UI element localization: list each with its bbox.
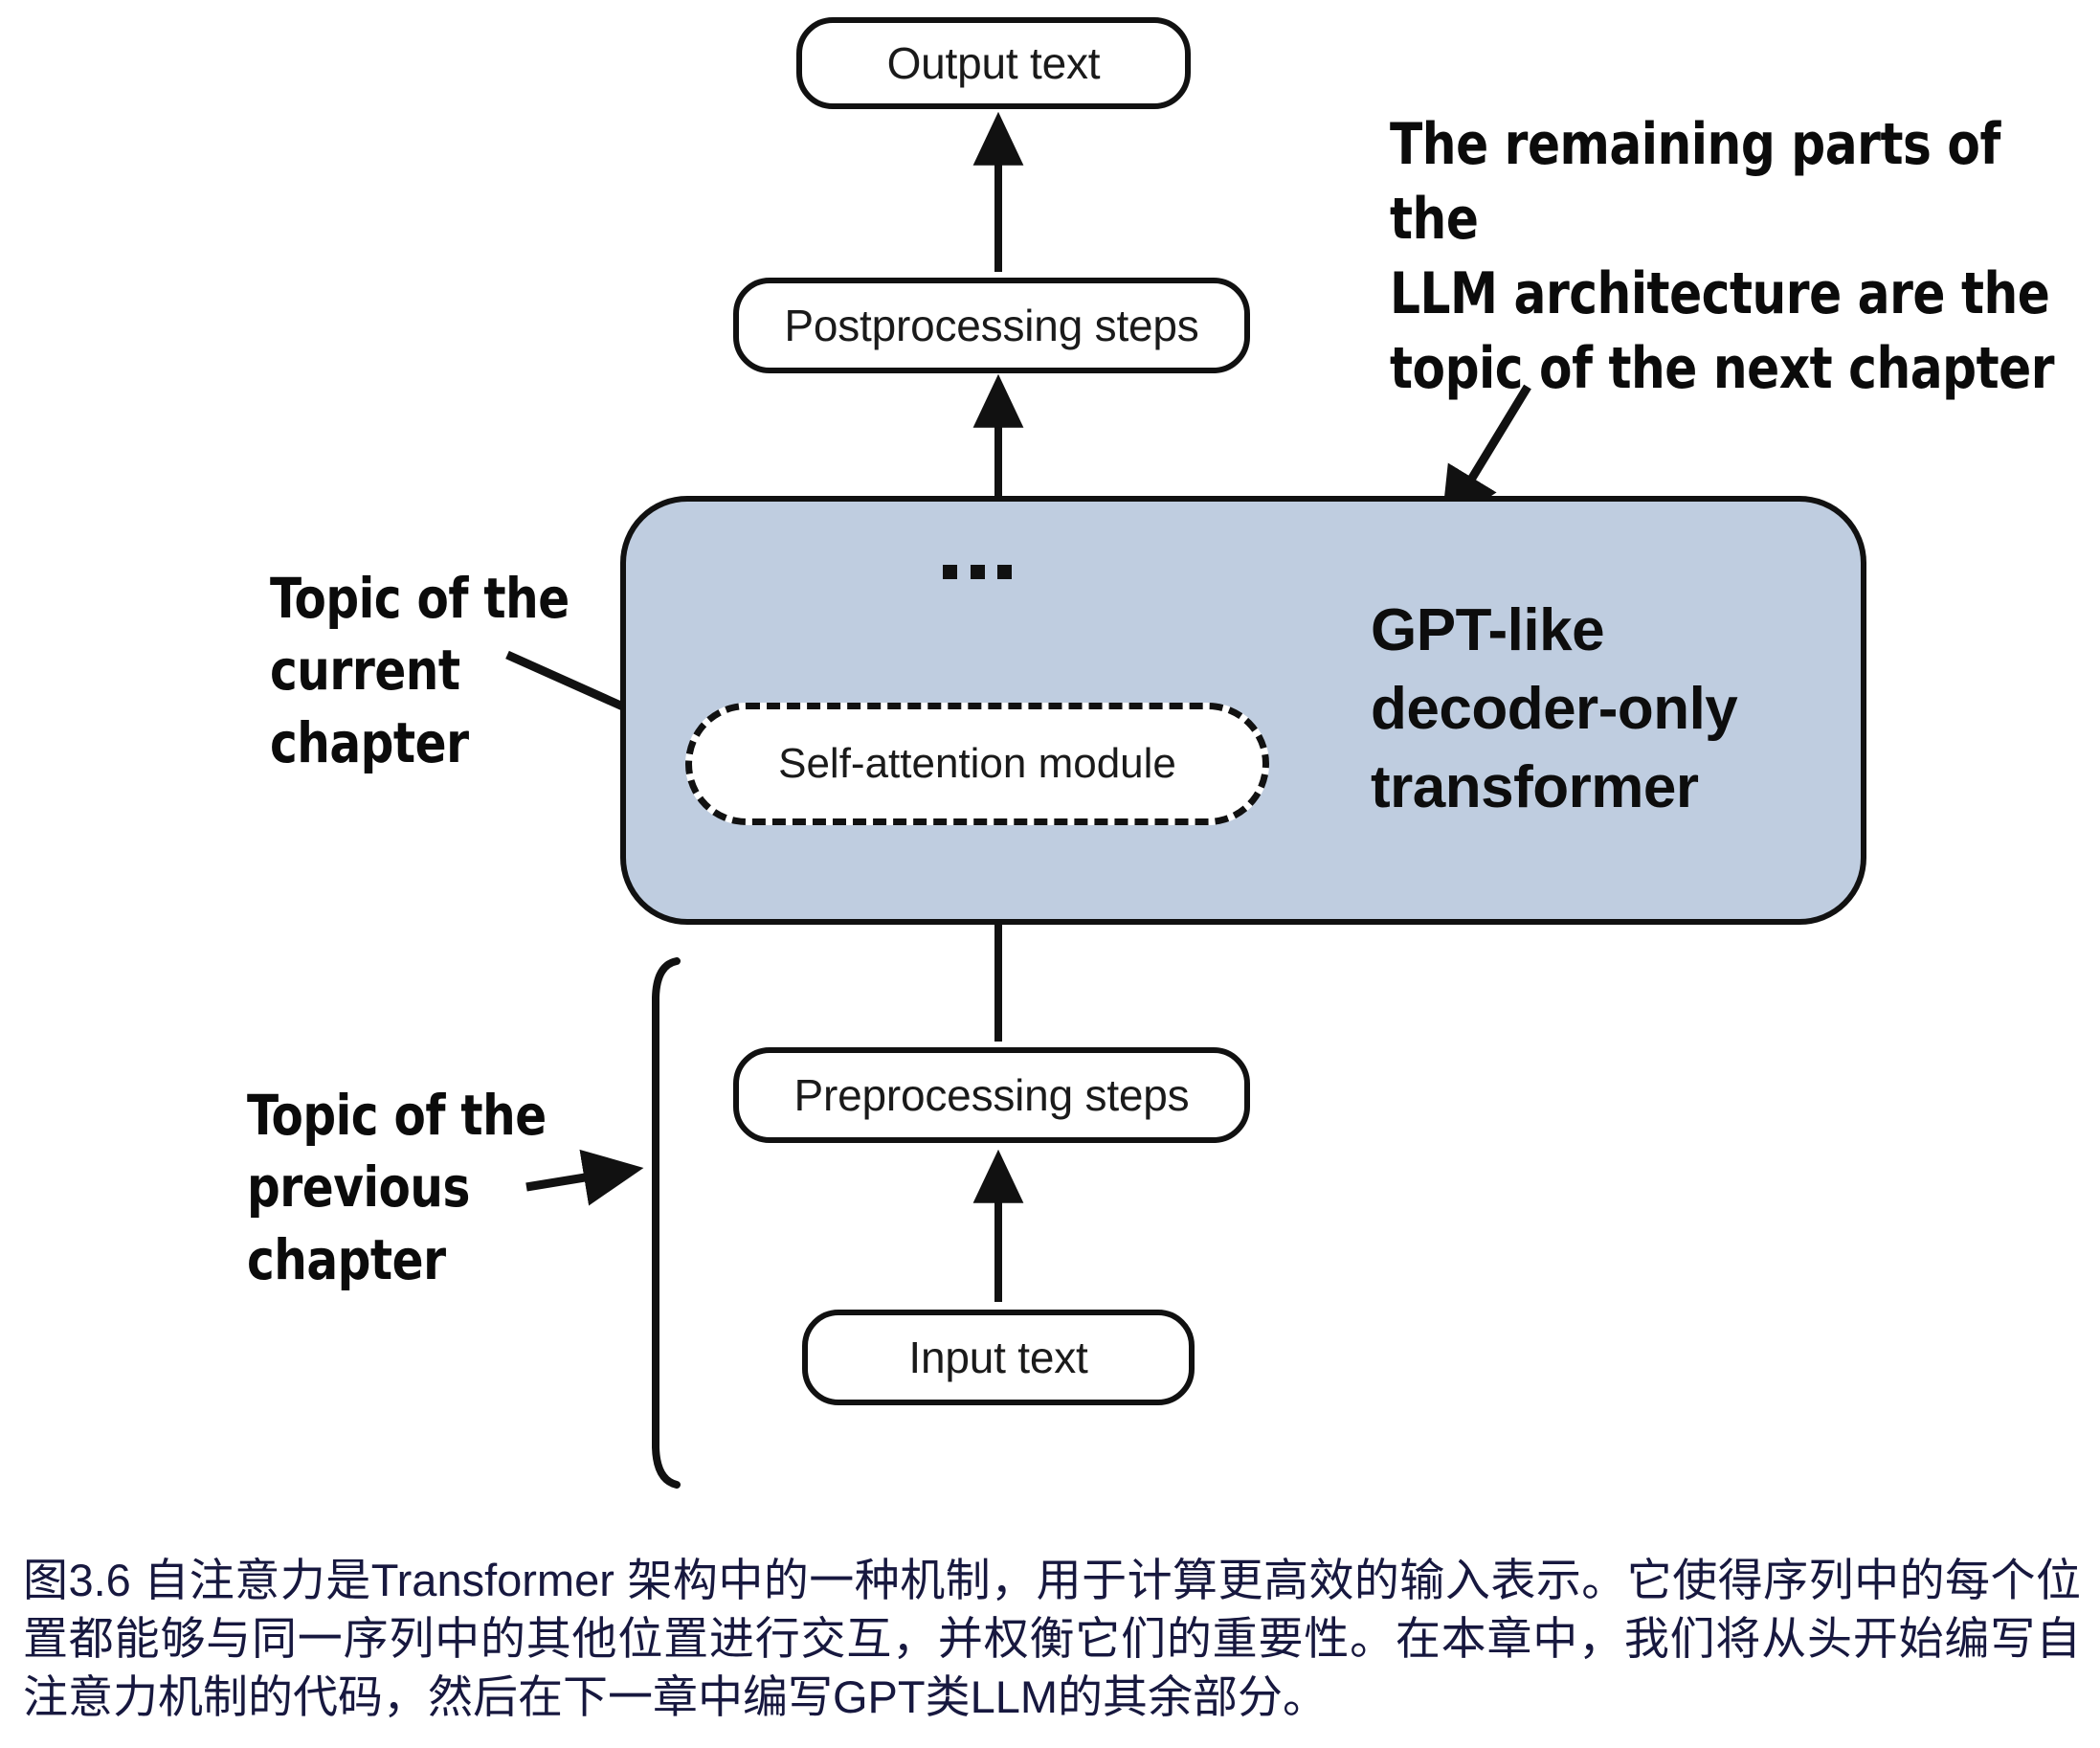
annotation-current-chapter-line3: chapter (270, 707, 608, 779)
transformer-block-label-line1: GPT-like (1371, 592, 1888, 670)
grouping-bracket (656, 961, 677, 1485)
ellipsis-icon (943, 563, 1012, 580)
ellipsis-dot (943, 565, 957, 579)
output-text-label: Output text (887, 37, 1101, 89)
annotation-next-chapter: The remaining parts of the LLM architect… (1390, 107, 2066, 406)
annotation-current-chapter: Topic of the current chapter (270, 563, 608, 779)
output-text-box: Output text (796, 17, 1191, 109)
input-text-label: Input text (908, 1332, 1087, 1383)
preprocessing-steps-label: Preprocessing steps (794, 1069, 1190, 1121)
figure-caption: 图3.6 自注意力是Transformer 架构中的一种机制，用于计算更高效的输… (23, 1551, 2081, 1726)
annotation-next-chapter-line3: topic of the next chapter (1390, 331, 2066, 406)
figure-diagram: GPT-like decoder-only transformer Self-a… (0, 0, 2100, 1517)
input-text-box: Input text (802, 1310, 1195, 1405)
ellipsis-dot (997, 565, 1012, 579)
self-attention-module-label: Self-attention module (778, 740, 1176, 788)
annotation-current-chapter-line2: current (270, 635, 608, 706)
annotation-next-chapter-line2: LLM architecture are the (1390, 257, 2066, 331)
self-attention-module-box: Self-attention module (685, 703, 1269, 825)
annotation-previous-chapter: Topic of the previous chapter (247, 1080, 603, 1296)
ellipsis-dot (971, 565, 985, 579)
postprocessing-steps-label: Postprocessing steps (784, 300, 1198, 351)
annotation-current-chapter-line1: Topic of the (270, 563, 608, 635)
postprocessing-steps-box: Postprocessing steps (733, 278, 1250, 373)
annotation-previous-chapter-line1: Topic of the (247, 1080, 603, 1152)
transformer-block-label: GPT-like decoder-only transformer (1371, 592, 1888, 826)
annotation-previous-chapter-line2: previous (247, 1152, 603, 1223)
annotation-next-chapter-line1: The remaining parts of the (1390, 107, 2066, 257)
transformer-block-label-line3: transformer (1371, 749, 1888, 827)
transformer-block-label-line2: decoder-only (1371, 670, 1888, 749)
annotation-previous-chapter-line3: chapter (247, 1224, 603, 1296)
preprocessing-steps-box: Preprocessing steps (733, 1047, 1250, 1143)
